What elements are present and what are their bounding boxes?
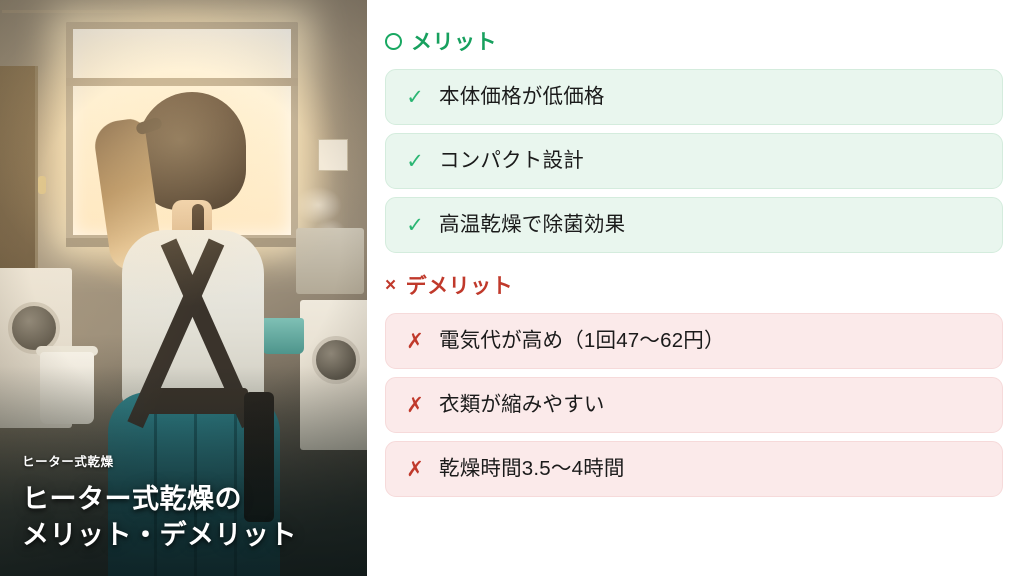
wall-notice	[318, 139, 348, 171]
check-icon: ✓	[406, 215, 424, 236]
drum-icon	[312, 336, 360, 384]
demerit-heading-label: デメリット	[406, 270, 514, 300]
demerit-list: ✗ 電気代が高め（1回47〜62円） ✗ 衣類が縮みやすい ✗ 乾燥時間3.5〜…	[385, 313, 1003, 497]
waist-sash	[144, 388, 248, 414]
x-icon: ✗	[406, 395, 424, 416]
hero-title-line-1: ヒーター式乾燥の	[22, 481, 353, 518]
merit-item-text: コンパクト設計	[439, 150, 584, 173]
content-panel: メリット ✓ 本体価格が低価格 ✓ コンパクト設計 ✓ 高温乾燥で除菌効果 × …	[367, 0, 1024, 576]
demerit-section-heading: × デメリット	[385, 270, 1003, 300]
check-icon: ✓	[406, 151, 424, 172]
x-icon: ✗	[406, 331, 424, 352]
slide-root: ヒーター式乾燥 ヒーター式乾燥の メリット・デメリット メリット ✓ 本体価格が…	[0, 0, 1024, 576]
hero-eyebrow-label: ヒーター式乾燥	[22, 451, 353, 470]
merit-list: ✓ 本体価格が低価格 ✓ コンパクト設計 ✓ 高温乾燥で除菌効果	[385, 69, 1003, 253]
curtain-rod	[2, 10, 302, 13]
hero-title: ヒーター式乾燥の メリット・デメリット	[22, 481, 353, 554]
dryer-unit	[296, 228, 364, 294]
circle-icon	[385, 33, 402, 50]
list-item[interactable]: ✓ コンパクト設計	[385, 133, 1003, 189]
door-knob	[38, 176, 46, 194]
window-mullion	[66, 78, 298, 86]
demerit-item-text: 電気代が高め（1回47〜62円）	[439, 330, 725, 353]
merit-item-text: 高温乾燥で除菌効果	[439, 214, 625, 237]
list-item[interactable]: ✗ 衣類が縮みやすい	[385, 377, 1003, 433]
laundry-bin	[40, 352, 94, 424]
demerit-item-text: 衣類が縮みやすい	[439, 394, 605, 417]
hero-image-panel: ヒーター式乾燥 ヒーター式乾燥の メリット・デメリット	[0, 0, 367, 576]
hero-title-line-2: メリット・デメリット	[22, 517, 353, 554]
merit-section-heading: メリット	[385, 26, 1003, 56]
list-item[interactable]: ✓ 高温乾燥で除菌効果	[385, 197, 1003, 253]
list-item[interactable]: ✓ 本体価格が低価格	[385, 69, 1003, 125]
cross-icon: ×	[385, 276, 397, 295]
hair	[138, 92, 246, 210]
x-icon: ✗	[406, 459, 424, 480]
merit-heading-label: メリット	[411, 26, 497, 56]
demerit-item-text: 乾燥時間3.5〜4時間	[439, 458, 625, 481]
list-item[interactable]: ✗ 乾燥時間3.5〜4時間	[385, 441, 1003, 497]
list-item[interactable]: ✗ 電気代が高め（1回47〜62円）	[385, 313, 1003, 369]
check-icon: ✓	[406, 87, 424, 108]
merit-item-text: 本体価格が低価格	[439, 86, 605, 109]
hero-caption: ヒーター式乾燥 ヒーター式乾燥の メリット・デメリット	[22, 451, 353, 554]
washing-machine-right	[300, 300, 367, 450]
